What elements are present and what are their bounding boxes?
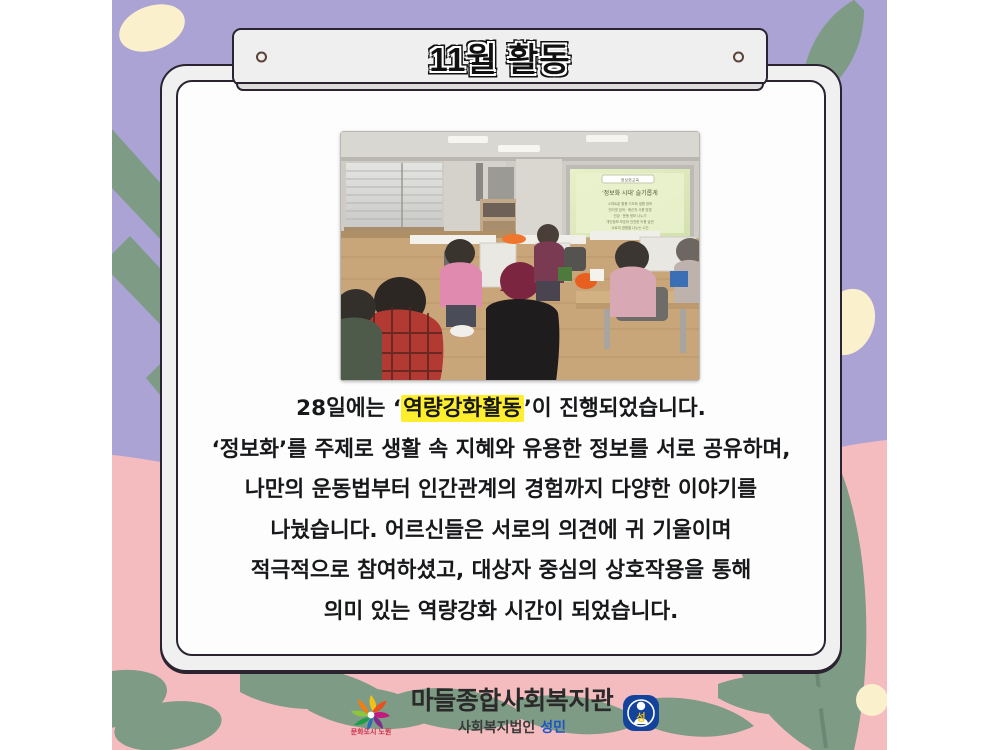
text-line-5: 적극적으로 참여하셨고, 대상자 중심의 상호작용을 통해	[186, 560, 816, 582]
organization-name: 마들종합사회복지관	[411, 688, 614, 714]
svg-text:인터넷 검색 · 메신저 사용 방법: 인터넷 검색 · 메신저 사용 방법	[608, 207, 651, 212]
svg-text:개인정보 보호와 안전한 이용 습관: 개인정보 보호와 안전한 이용 습관	[606, 219, 653, 224]
activity-photo: 정보화교육 ‘정보화 시대’ 슬기롭게 스마트폰 활용 기초와 생활 정보 인터…	[340, 131, 700, 381]
activity-description: 28일에는 ‘역량강화활동’이 진행되었습니다. ‘정보화’를 주제로 생활 속…	[186, 398, 816, 641]
footer-branding: 문화도시 노원 마들종합사회복지관 사회복지법인 성민 성	[0, 684, 1000, 750]
svg-text:정보화교육: 정보화교육	[621, 177, 640, 183]
pinwheel-star-icon	[351, 695, 390, 731]
svg-text:스마트폰 활용 기초와 생활 정보: 스마트폰 활용 기초와 생활 정보	[608, 201, 652, 206]
line1-pre: 28일에는 ‘	[296, 396, 401, 421]
binder-hole-icon-left	[256, 52, 267, 63]
text-line-6: 의미 있는 역량강화 시간이 되었습니다.	[186, 601, 816, 623]
text-line-3: 나만의 운동법부터 인간관계의 경험까지 다양한 이야기를	[186, 479, 816, 501]
photo-person-far-right	[674, 238, 700, 303]
nowon-logo-text: 문화도시 노원	[350, 727, 391, 736]
svg-text:‘정보화 시대’ 슬기롭게: ‘정보화 시대’ 슬기롭게	[602, 189, 657, 197]
content-card-inner: 정보화교육 ‘정보화 시대’ 슬기롭게 스마트폰 활용 기초와 생활 정보 인터…	[176, 80, 826, 656]
text-line-4: 나눴습니다. 어르신들은 서로의 의견에 귀 기울이며	[186, 520, 816, 542]
text-line-2: ‘정보화’를 주제로 생활 속 지혜와 유용한 정보를 서로 공유하며,	[186, 439, 816, 461]
organization-subtitle: 사회복지법인 성민	[458, 717, 566, 737]
nowon-logo: 문화도시 노원	[340, 689, 402, 737]
title-banner: 11월 활동	[232, 28, 768, 86]
line1-post: ’이 진행되었습니다.	[524, 396, 706, 421]
text-line-1: 28일에는 ‘역량강화활동’이 진행되었습니다.	[186, 398, 816, 420]
svg-text:성: 성	[637, 711, 646, 724]
poster-canvas: 정보화교육 ‘정보화 시대’ 슬기롭게 스마트폰 활용 기초와 생활 정보 인터…	[0, 0, 1000, 750]
svg-text:건강 · 운동 정보 나누기: 건강 · 운동 정보 나누기	[614, 213, 647, 218]
content-card: 정보화교육 ‘정보화 시대’ 슬기롭게 스마트폰 활용 기초와 생활 정보 인터…	[160, 64, 842, 672]
svg-text:서로의 경험을 나누는 시간: 서로의 경험을 나누는 시간	[611, 225, 648, 230]
org-sub-prefix: 사회복지법인	[458, 720, 535, 736]
sungmin-logo: 성	[622, 694, 660, 732]
line1-highlight: 역량강화활동	[401, 395, 524, 422]
org-sub-brand: 성민	[540, 720, 566, 736]
page-title: 11월 활동	[429, 33, 570, 81]
binder-hole-icon-right	[733, 52, 744, 63]
